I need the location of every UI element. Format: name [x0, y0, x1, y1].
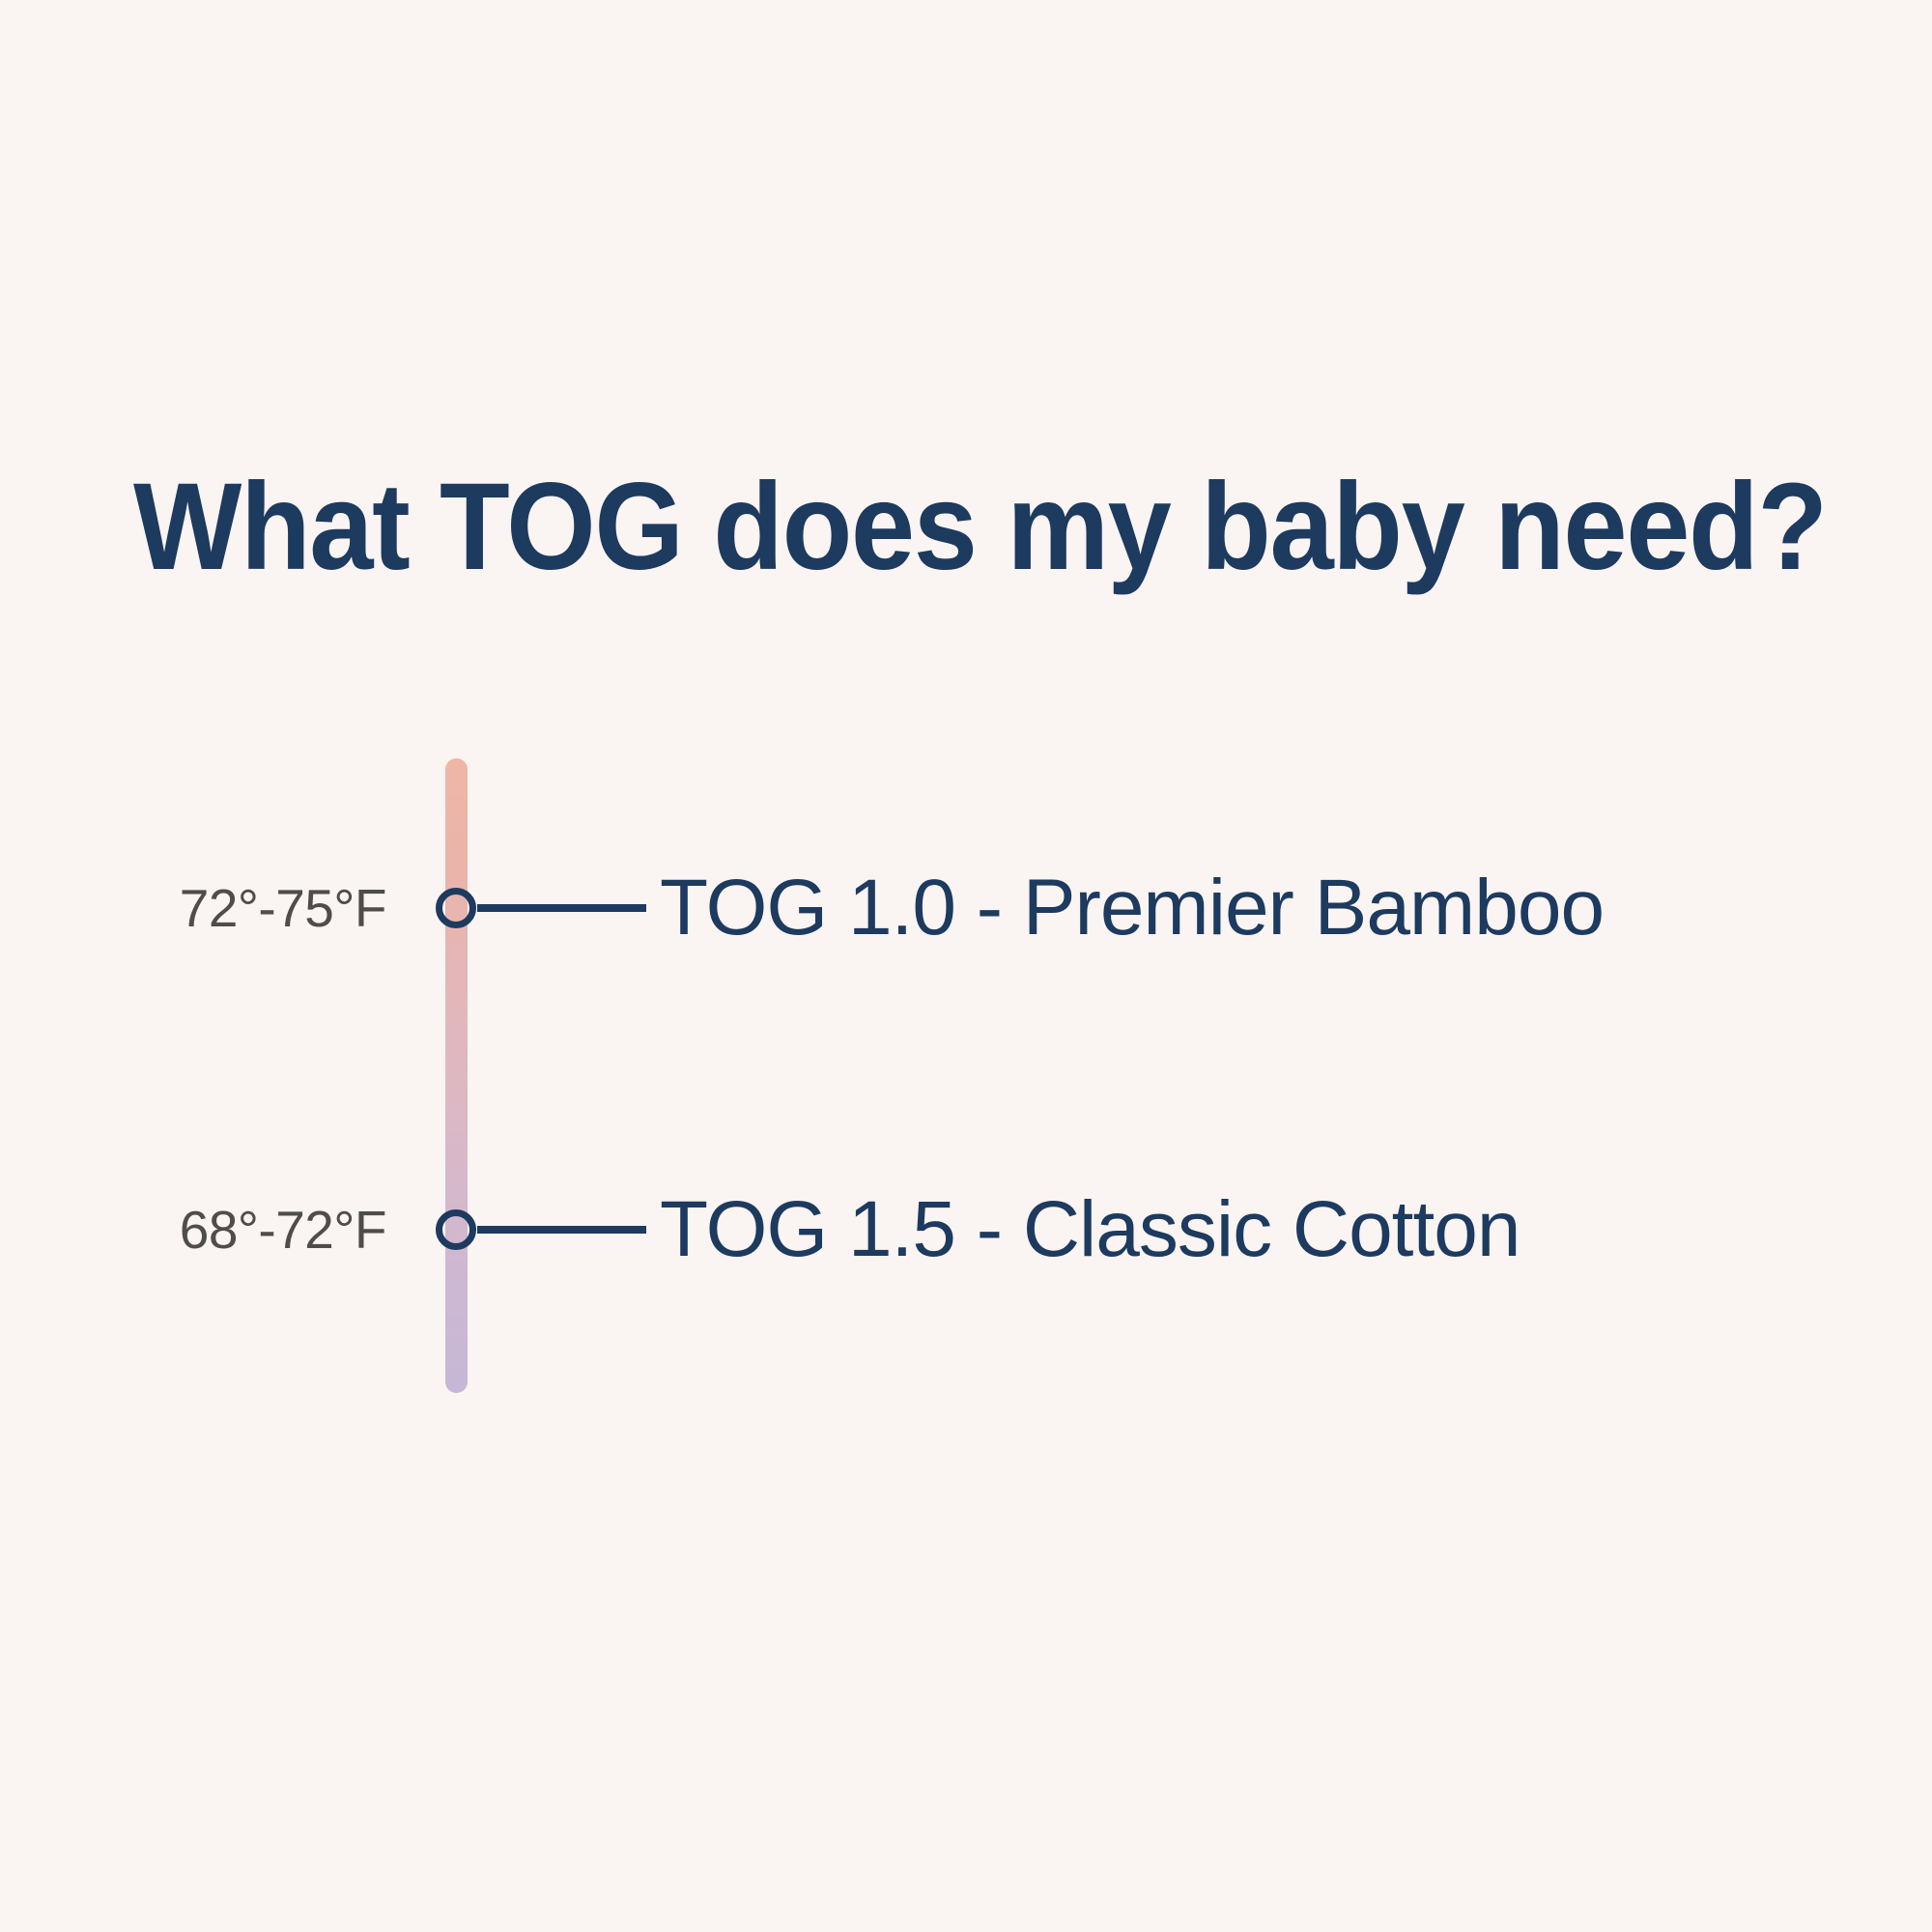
connector-line — [477, 1226, 646, 1234]
temperature-range-label: 68°-72°F — [0, 1193, 386, 1266]
page-title: What TOG does my baby need? — [133, 466, 1715, 589]
connector-line — [477, 904, 646, 912]
ring-marker-icon — [436, 888, 476, 928]
temperature-gradient-bar — [445, 758, 468, 1393]
ring-marker-icon — [436, 1209, 476, 1250]
tog-product-label: TOG 1.5 - Classic Cotton — [660, 1186, 1520, 1273]
tog-product-label: TOG 1.0 - Premier Bamboo — [660, 865, 1604, 952]
temperature-range-label: 72°-75°F — [0, 871, 386, 945]
tog-infographic: What TOG does my baby need? 72°-75°F TOG… — [0, 0, 1932, 1932]
